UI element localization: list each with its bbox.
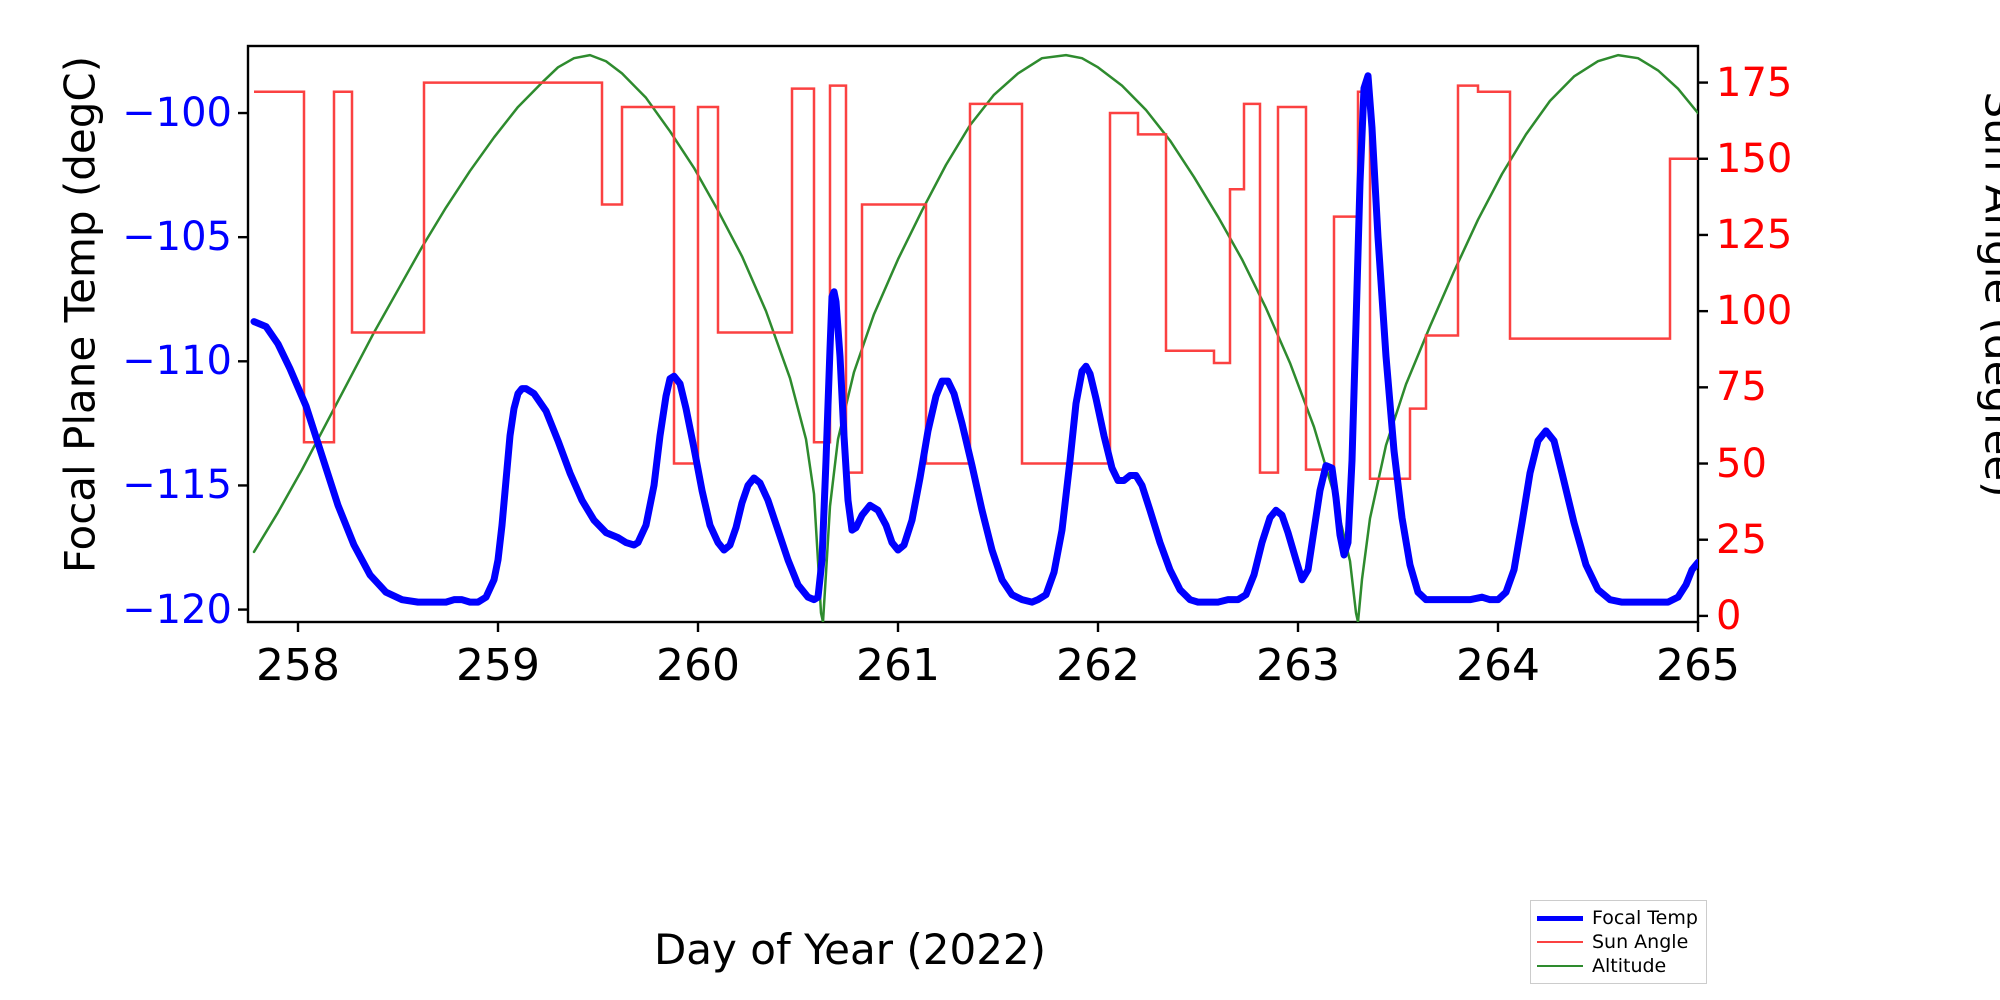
chart-canvas (0, 0, 2000, 1000)
series-line-altitude (254, 55, 1698, 622)
y-tick-label-right: 175 (1716, 60, 1792, 106)
legend-label: Focal Temp (1592, 909, 1698, 928)
y-tick-label-right: 125 (1716, 212, 1792, 258)
y-tick-label-left: −110 (122, 338, 232, 384)
legend-item[interactable]: Altitude (1537, 954, 1698, 978)
axis-ticks (238, 83, 1708, 632)
y-tick-label-right: 50 (1716, 441, 1767, 487)
series-line-sun-angle (254, 83, 1698, 479)
x-tick-label: 260 (656, 640, 740, 691)
x-axis-label: Day of Year (2022) (0, 925, 1700, 974)
x-tick-label: 261 (856, 640, 940, 691)
legend-label: Altitude (1592, 957, 1666, 976)
figure-root: Focal Plane Temp (degC) Sun Angle (degre… (0, 0, 2000, 1000)
y-tick-label-right: 100 (1716, 288, 1792, 334)
data-series-group (254, 55, 1698, 622)
y-tick-label-right: 75 (1716, 364, 1767, 410)
legend-swatch-altitude (1537, 965, 1583, 967)
y-tick-label-left: −100 (122, 90, 232, 136)
x-tick-label: 258 (256, 640, 340, 691)
y-tick-label-right: 150 (1716, 136, 1792, 182)
legend-item[interactable]: Sun Angle (1537, 930, 1698, 954)
y-axis-left-label: Focal Plane Temp (degC) (56, 0, 105, 645)
y-tick-label-right: 0 (1716, 593, 1741, 639)
chart-legend[interactable]: Focal TempSun AngleAltitude (1530, 900, 1707, 984)
y-axis-right-label: Sun Angle (degree) (1976, 0, 2000, 605)
legend-swatch-focal-temp (1537, 916, 1583, 921)
y-tick-label-left: −115 (122, 462, 232, 508)
series-line-focal-temp (254, 76, 1698, 602)
y-tick-label-right: 25 (1716, 517, 1767, 563)
x-tick-label: 265 (1656, 640, 1740, 691)
legend-item[interactable]: Focal Temp (1537, 906, 1698, 930)
y-tick-label-left: −120 (122, 587, 232, 633)
legend-label: Sun Angle (1592, 933, 1688, 952)
x-tick-label: 263 (1256, 640, 1340, 691)
x-tick-label: 259 (456, 640, 540, 691)
x-tick-label: 264 (1456, 640, 1540, 691)
legend-swatch-sun-angle (1537, 941, 1583, 943)
y-tick-label-left: −105 (122, 214, 232, 260)
x-tick-label: 262 (1056, 640, 1140, 691)
axes-frame (248, 46, 1698, 622)
